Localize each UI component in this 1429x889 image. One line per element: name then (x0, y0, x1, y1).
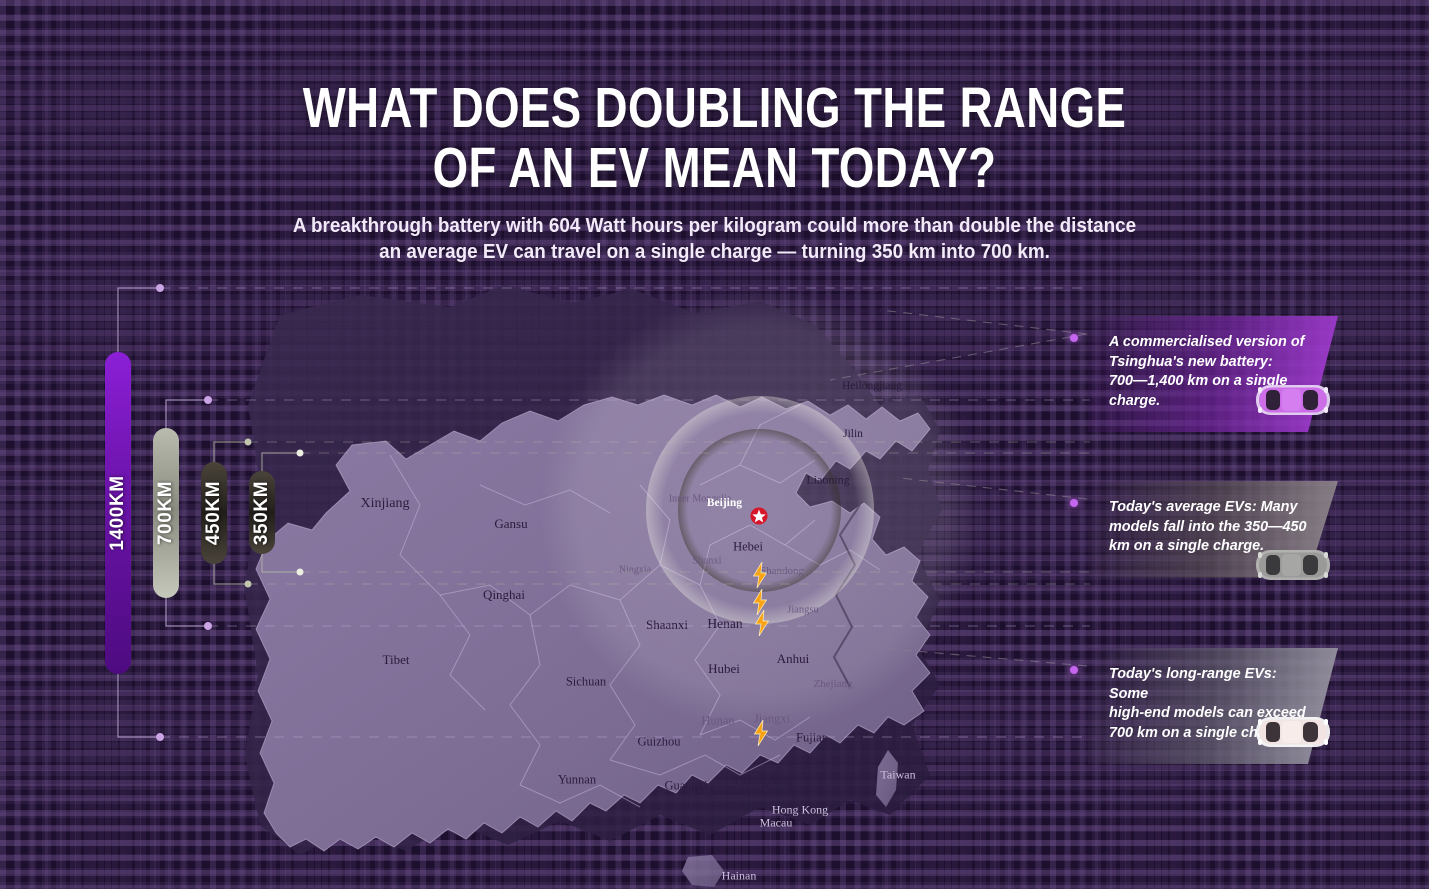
car-icon (1254, 712, 1332, 752)
callout-anchor-dot (1070, 666, 1078, 674)
callout-anchor-dot (1070, 334, 1078, 342)
callout-average-evs[interactable]: Today's average EVs: Many models fall in… (1088, 481, 1338, 578)
page-subtitle: A breakthrough battery with 604 Watt hou… (57, 213, 1372, 265)
callout-long-range-evs[interactable]: Today's long-range EVs: Some high-end mo… (1088, 648, 1338, 764)
callout-anchor-dot (1070, 499, 1078, 507)
car-icon (1254, 380, 1332, 420)
callout-commercialised-battery[interactable]: A commercialised version of Tsinghua's n… (1088, 316, 1338, 432)
page-title: WHAT DOES DOUBLING THE RANGE OF AN EV ME… (143, 78, 1286, 198)
header: WHAT DOES DOUBLING THE RANGE OF AN EV ME… (0, 78, 1429, 265)
car-icon (1254, 545, 1332, 585)
